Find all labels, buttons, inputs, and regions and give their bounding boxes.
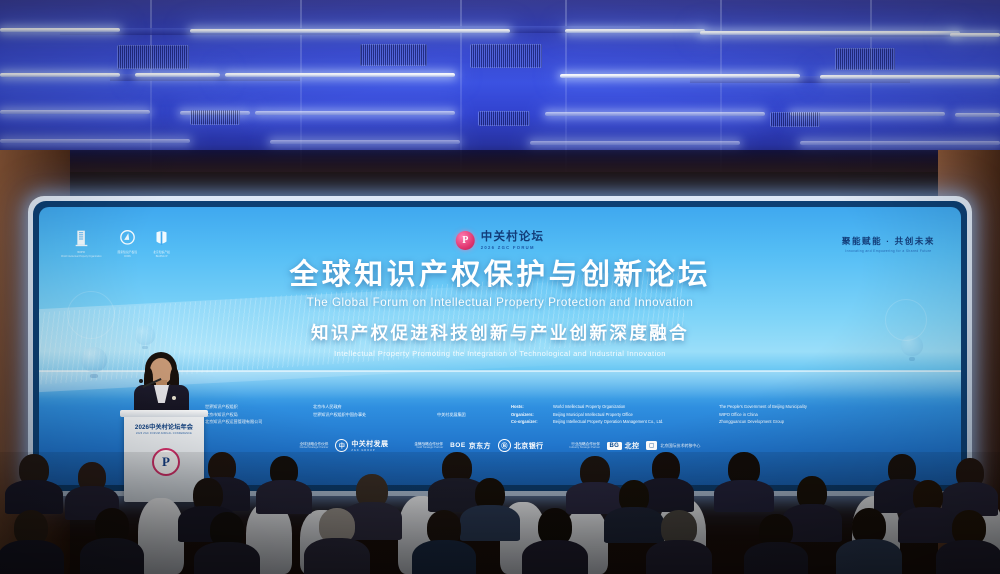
ceiling-vent: [360, 44, 427, 66]
audience: [0, 452, 1000, 574]
audience-member: [938, 510, 1000, 574]
audience-member: [648, 510, 710, 574]
tech-transfer-center-logo: ▢ 北京国际技术转移中心: [646, 441, 700, 450]
wipo-icon: [73, 229, 90, 249]
forum-slogan: 聚能赋能 · 共创未来 Innovating and Empowering fo…: [842, 235, 935, 253]
ceiling-light-strip: [225, 73, 455, 77]
ceiling-seam: [300, 0, 302, 172]
sponsor-global-strategic: 全球战略合作伙伴 Global Strategic Partner 中 中关村发…: [300, 439, 389, 452]
ceiling-vent: [117, 45, 189, 69]
bjipo-icon: [153, 229, 170, 249]
wipo-logo: WIPO World Intellectual Property Organiz…: [61, 229, 102, 259]
bg-name-cn: 北控: [625, 441, 640, 451]
ceiling-light-strip: [530, 141, 740, 145]
credit-line: The People's Government of Beijing Munic…: [719, 403, 869, 411]
ceiling-light-strip: [820, 75, 1000, 79]
ceiling-light-strip: [545, 112, 765, 116]
credit-label: Hosts:: [511, 403, 553, 411]
ceiling-shadow-band: [0, 150, 1000, 172]
zgc-group-name-cn: 中关村发展: [351, 439, 388, 449]
main-title-cn: 全球知识产权保护与创新论坛: [39, 259, 961, 291]
credit-line: 北京市人民政府: [313, 403, 437, 411]
sponsor-tag-en: Industry Strategic Partner: [570, 446, 600, 449]
credits-cn-col-2: 北京市人民政府 世界知识产权组织中国办事处: [313, 403, 437, 426]
cnipa-caption: 国家知识产权局: [118, 251, 138, 254]
forum-title-block: 全球知识产权保护与创新论坛 The Global Forum on Intell…: [39, 259, 961, 358]
ceiling-vent: [478, 111, 530, 126]
zgc-badge-letter: P: [462, 235, 468, 246]
ceiling-light-strip: [190, 29, 510, 33]
ceiling-light-strip: [255, 111, 455, 115]
partner-logo-row: WIPO World Intellectual Property Organiz…: [61, 229, 170, 259]
bg-mark: BG: [607, 442, 622, 450]
ceiling-light-strip: [700, 31, 960, 35]
audience-member: [414, 510, 474, 574]
sponsor-tag-en: Global Strategic Partner: [300, 446, 329, 449]
subtitle-cn: 知识产权促进科技创新与产业创新深度融合: [39, 320, 961, 345]
credit-line: Beijing Intellectual Property Operation …: [553, 418, 719, 426]
podium-sign-cn: 2026中关村论坛年会: [128, 422, 200, 431]
credit-line: World Intellectual Property Organization: [553, 403, 719, 411]
zgc-group-icon: 中: [335, 439, 348, 452]
audience-member: [6, 454, 62, 512]
ceiling-light-strip: [560, 74, 800, 78]
podium-sign: 2026中关村论坛年会 2026 ZGC FORUM ANNUAL CONFER…: [128, 422, 200, 435]
slogan-cn: 聚能赋能 · 共创未来: [842, 235, 935, 247]
audience-member: [196, 512, 258, 574]
ceiling: [0, 0, 1000, 172]
audience-member: [0, 510, 62, 574]
bjipo-logo: 北京知识产权 BEIJING IP: [153, 229, 170, 259]
conference-hall-photo: WIPO World Intellectual Property Organiz…: [0, 0, 1000, 574]
main-title-en: The Global Forum on Intellectual Propert…: [39, 296, 961, 309]
ceiling-vent: [190, 110, 240, 125]
ceiling-light-strip: [0, 73, 120, 77]
ceiling-light-strip: [0, 110, 150, 114]
credit-line: Zhongguancun Development Group: [719, 418, 869, 426]
zgc-badge-icon: P: [456, 231, 475, 250]
podium-top-surface: [120, 410, 208, 417]
zgc-forum-name-cn: 中关村论坛: [481, 231, 545, 243]
ceiling-light-strip: [800, 141, 1000, 145]
tech-transfer-name-cn: 北京国际技术转移中心: [660, 443, 700, 449]
slogan-en: Innovating and Empowering for a Shared F…: [842, 249, 935, 253]
credits-labels: Hosts: Organizers: Co-organizer:: [511, 403, 553, 426]
credits-cn-col-3: 中关村发展集团: [437, 403, 511, 426]
speaker-badge-pin: [172, 396, 176, 400]
boe-mark: BOE: [450, 442, 466, 449]
audience-member: [838, 508, 900, 574]
ceiling-seam: [870, 0, 872, 172]
credit-label: Organizers:: [511, 411, 553, 419]
credit-line: 中关村发展集团: [437, 411, 511, 419]
credit-label: Co-organizer:: [511, 418, 553, 426]
ceiling-vent: [470, 44, 542, 68]
boe-name-cn: 京东方: [469, 441, 491, 451]
zgc-group-logo: 中 中关村发展 ZGC GROUP: [335, 439, 388, 452]
ceiling-light-strip: [0, 28, 120, 32]
credit-line: 世界知识产权组织: [205, 403, 313, 411]
microphone-head-icon: [139, 379, 143, 383]
wipo-caption: WIPO: [77, 251, 85, 254]
ceiling-light-strip: [565, 29, 705, 33]
bank-of-beijing-name-cn: 北京银行: [514, 441, 544, 451]
ceiling-seam: [150, 0, 152, 172]
audience-member: [82, 508, 142, 574]
bjipo-caption: 北京知识产权: [153, 251, 170, 254]
credit-line: 北京市知识产权局: [205, 411, 313, 419]
ceiling-light-strip: [950, 33, 1000, 37]
sponsor-industry-strategic: 行业战略合作伙伴 Industry Strategic Partner BG 北…: [570, 441, 701, 451]
credit-line: WIPO Office in China: [719, 411, 869, 419]
audience-member: [258, 456, 310, 512]
audience-member: [716, 452, 772, 510]
credits-en-col-1: World Intellectual Property Organization…: [553, 403, 719, 426]
audience-member: [524, 508, 586, 574]
cnipa-logo: 国家知识产权局 CNIPA: [118, 229, 138, 259]
zgc-forum-name-en: 2026 ZGC FORUM: [481, 245, 545, 250]
credit-line: 世界知识产权组织中国办事处: [313, 411, 437, 419]
sponsor-gold-strategic: 金牌战略合作伙伴 Gold Strategic Partner BOE 京东方 …: [414, 439, 543, 452]
zgc-forum-logo: P 中关村论坛 2026 ZGC FORUM: [456, 231, 545, 250]
cnipa-icon: [119, 229, 136, 249]
audience-member: [746, 514, 806, 574]
ceiling-light-strip: [0, 139, 190, 143]
credits-en-col-2: The People's Government of Beijing Munic…: [719, 403, 869, 426]
ceiling-vent: [770, 112, 820, 127]
sponsor-tag-en: Gold Strategic Partner: [414, 446, 443, 449]
ceiling-light-strip: [270, 140, 460, 144]
ceiling-vent: [835, 48, 895, 70]
bank-of-beijing-logo: Ⓑ 北京银行: [498, 439, 544, 452]
credit-line: 北京知识产权运营管理有限公司: [205, 418, 313, 426]
ceiling-light-strip: [955, 113, 1000, 117]
podium-sign-en: 2026 ZGC FORUM ANNUAL CONFERENCE: [128, 432, 200, 435]
boe-logo: BOE 京东方: [450, 441, 491, 451]
tech-transfer-icon: ▢: [646, 441, 657, 450]
credit-line: Beijing Municipal Intellectual Property …: [553, 411, 719, 419]
ceiling-seam: [720, 0, 722, 172]
ceiling-light-strip: [135, 73, 220, 77]
audience-member: [306, 508, 368, 574]
bank-of-beijing-icon: Ⓑ: [498, 439, 511, 452]
bg-beijing-logo: BG 北控: [607, 441, 639, 451]
